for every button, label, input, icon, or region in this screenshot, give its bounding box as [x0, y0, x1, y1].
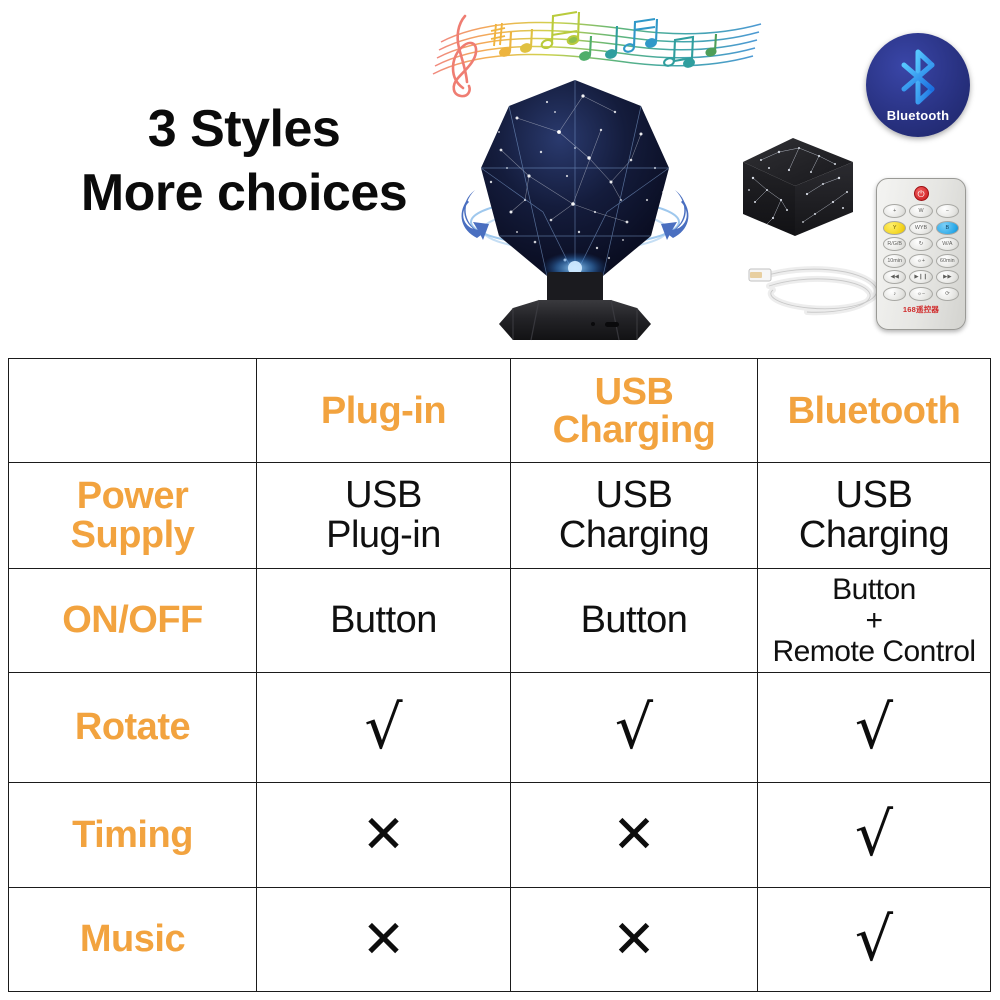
- cell-music-usb: ✕: [511, 888, 758, 992]
- remote-button-10min[interactable]: 10min: [883, 254, 906, 268]
- cell-power-plugin: USB Plug-in: [257, 463, 511, 569]
- header-bluetooth: Bluetooth: [758, 359, 991, 463]
- remote-button-loop[interactable]: ⟳: [936, 287, 959, 301]
- remote-button-grid[interactable]: + W − Y WYB B R/G/B ↻ W/A 10min ☼+ 60min…: [883, 204, 959, 301]
- cell-timing-usb: ✕: [511, 783, 758, 888]
- check-mark-icon: √: [261, 698, 506, 758]
- headline-line-2: More choices: [44, 164, 444, 222]
- row-label-rotate: Rotate: [9, 673, 257, 783]
- cell-power-bluetooth: USB Charging: [758, 463, 991, 569]
- cell-music-plugin: ✕: [257, 888, 511, 992]
- cross-mark-icon: ✕: [515, 914, 753, 966]
- cell-music-bluetooth: √: [758, 888, 991, 992]
- usb-cable: [743, 246, 893, 326]
- remote-button-rotate[interactable]: ↻: [909, 237, 932, 251]
- remote-button-bright-down[interactable]: ☼−: [909, 287, 932, 301]
- table-row: Music ✕ ✕ √: [9, 888, 991, 992]
- cross-mark-icon: ✕: [261, 914, 506, 966]
- remote-button-60min[interactable]: 60min: [936, 254, 959, 268]
- table-header-row: Plug-in USB Charging Bluetooth: [9, 359, 991, 463]
- remote-button-minus[interactable]: −: [936, 204, 959, 218]
- cell-onoff-plugin: Button: [257, 569, 511, 673]
- remote-power-button[interactable]: ⏻: [914, 186, 929, 201]
- cell-onoff-usb: Button: [511, 569, 758, 673]
- cell-rotate-bluetooth: √: [758, 673, 991, 783]
- product-box: [735, 132, 861, 242]
- page-title: 3 Styles More choices: [44, 100, 444, 222]
- table-row: Timing ✕ ✕ √: [9, 783, 991, 888]
- remote-button-blue[interactable]: B: [936, 221, 959, 235]
- remote-model-label: 168遥控器: [883, 304, 959, 315]
- remote-button-rgb[interactable]: R/G/B: [883, 237, 906, 251]
- remote-button-bright-up[interactable]: ☼+: [909, 254, 932, 268]
- cross-mark-icon: ✕: [261, 809, 506, 861]
- remote-button-yellow[interactable]: Y: [883, 221, 906, 235]
- bluetooth-badge-label: Bluetooth: [887, 108, 949, 123]
- check-mark-icon: √: [762, 698, 986, 758]
- header-plugin: Plug-in: [257, 359, 511, 463]
- remote-button-w[interactable]: W: [909, 204, 932, 218]
- header-usb-charging: USB Charging: [511, 359, 758, 463]
- remote-control[interactable]: ⏻ + W − Y WYB B R/G/B ↻ W/A 10min ☼+ 60m…: [876, 178, 966, 330]
- check-mark-icon: √: [515, 698, 753, 758]
- table-row: Power Supply USB Plug-in USB Charging US…: [9, 463, 991, 569]
- star-projector-lamp: [455, 72, 695, 350]
- bluetooth-badge: Bluetooth: [866, 33, 970, 137]
- header-corner-cell: [9, 359, 257, 463]
- row-label-timing: Timing: [9, 783, 257, 888]
- cell-rotate-plugin: √: [257, 673, 511, 783]
- remote-button-wa[interactable]: W/A: [936, 237, 959, 251]
- cell-timing-plugin: ✕: [257, 783, 511, 888]
- row-label-power-supply: Power Supply: [9, 463, 257, 569]
- check-mark-icon: √: [762, 910, 986, 970]
- cross-mark-icon: ✕: [515, 809, 753, 861]
- remote-button-playpause[interactable]: ▶❙❙: [909, 270, 932, 284]
- row-label-onoff: ON/OFF: [9, 569, 257, 673]
- cell-power-usb: USB Charging: [511, 463, 758, 569]
- table-row: ON/OFF Button Button Button + Remote Con…: [9, 569, 991, 673]
- infographic-root: 3 Styles More choices: [0, 0, 1000, 1000]
- cell-timing-bluetooth: √: [758, 783, 991, 888]
- row-label-music: Music: [9, 888, 257, 992]
- comparison-table: Plug-in USB Charging Bluetooth Power Sup…: [8, 358, 991, 992]
- check-mark-icon: √: [762, 805, 986, 865]
- cell-rotate-usb: √: [511, 673, 758, 783]
- remote-button-plus[interactable]: +: [883, 204, 906, 218]
- headline-line-1: 3 Styles: [44, 100, 444, 158]
- remote-button-prev[interactable]: ◀◀: [883, 270, 906, 284]
- remote-button-next[interactable]: ▶▶: [936, 270, 959, 284]
- remote-button-wyb[interactable]: WYB: [909, 221, 932, 235]
- bluetooth-icon: [895, 48, 941, 106]
- hero-section: 3 Styles More choices: [0, 0, 1000, 358]
- remote-button-music[interactable]: ♪: [883, 287, 906, 301]
- table-row: Rotate √ √ √: [9, 673, 991, 783]
- cell-onoff-bluetooth: Button + Remote Control: [758, 569, 991, 673]
